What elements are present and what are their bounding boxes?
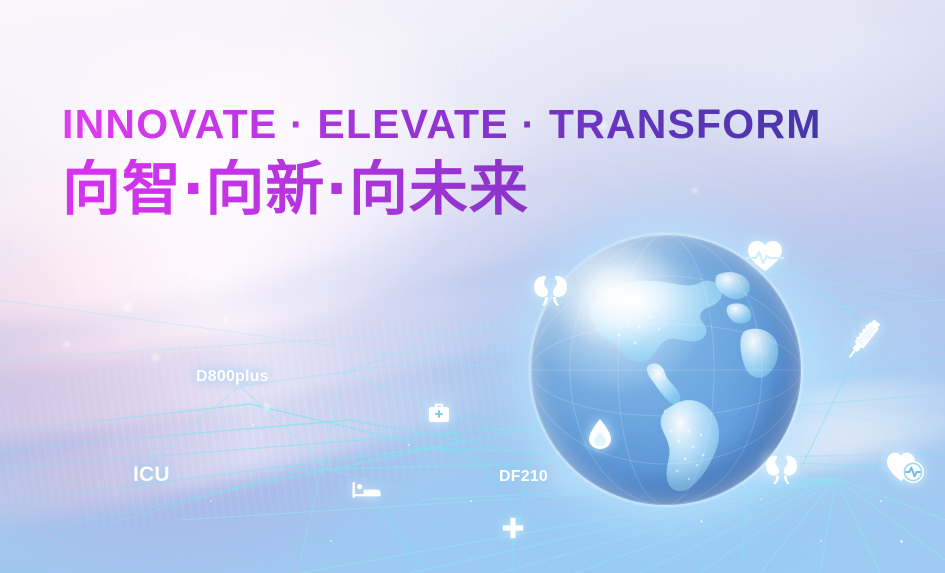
heart-ecg-icon bbox=[886, 450, 926, 484]
medical-cross-icon bbox=[502, 517, 524, 539]
kidneys-icon bbox=[529, 268, 571, 310]
hero-banner: D800plus ICU DF210 INNOVATE · ELEVATE · … bbox=[0, 0, 945, 573]
hospital-bed-icon bbox=[352, 481, 382, 499]
equipment-label-df210: DF210 bbox=[499, 468, 548, 486]
heart-pulse-icon bbox=[746, 239, 784, 273]
equipment-label-d800plus: D800plus bbox=[196, 368, 269, 386]
medical-kit-icon bbox=[428, 403, 450, 423]
headline-block: INNOVATE · ELEVATE · TRANSFORM 向智·向新·向未来 bbox=[62, 104, 822, 218]
headline-chinese: 向智·向新·向未来 bbox=[62, 159, 822, 218]
kidneys-icon bbox=[761, 448, 801, 488]
headline-english: INNOVATE · ELEVATE · TRANSFORM bbox=[62, 104, 822, 145]
water-drop-icon bbox=[587, 418, 613, 450]
equipment-label-icu: ICU bbox=[133, 463, 170, 487]
